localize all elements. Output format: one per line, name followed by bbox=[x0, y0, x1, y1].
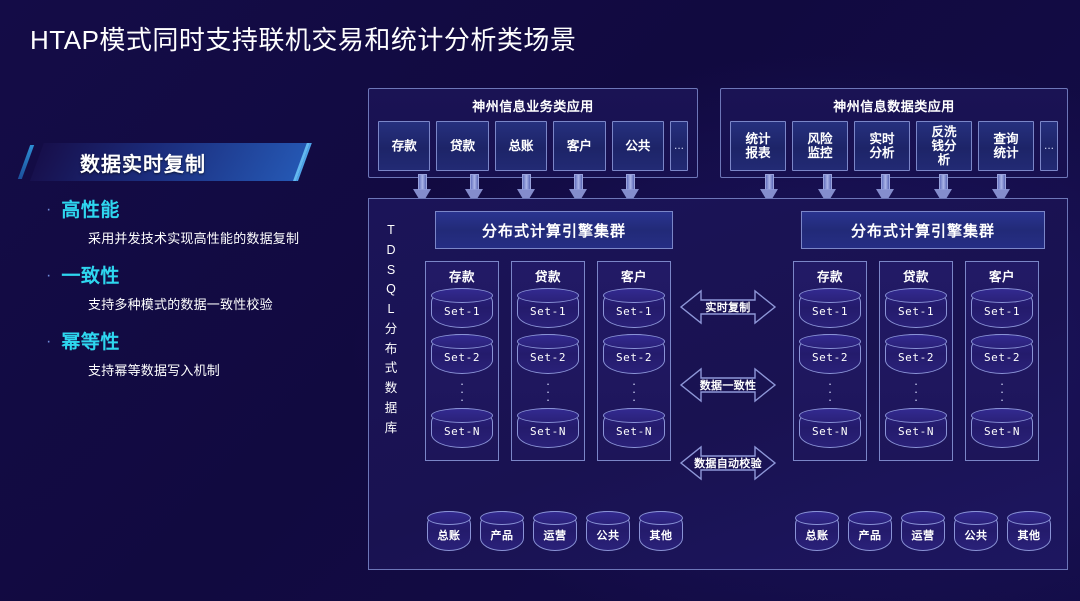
feature-title: 幂等性 bbox=[61, 327, 120, 354]
set-cylinder[interactable]: Set-2 bbox=[885, 334, 947, 374]
app-chip-more[interactable]: ... bbox=[1040, 121, 1058, 171]
feature-description: 支持幂等数据写入机制 bbox=[26, 360, 346, 379]
tdsql-label-char: L bbox=[379, 300, 403, 320]
app-group-business: 神州信息业务类应用 存款 贷款 总账 客户 公共 ... bbox=[368, 88, 698, 178]
set-cylinder[interactable]: Set-1 bbox=[799, 288, 861, 328]
sync-arrow-label: 实时复制 bbox=[705, 299, 750, 315]
app-group-data: 神州信息数据类应用 统计报表 风险监控 实时分析 反洗钱分析 查询统计 ... bbox=[720, 88, 1068, 178]
compute-engine-cluster: 分布式计算引擎集群 bbox=[801, 211, 1045, 249]
set-cylinder[interactable]: Set-2 bbox=[971, 334, 1033, 374]
tdsql-label-char: 式 bbox=[379, 359, 403, 379]
vertical-dots-icon: ··· bbox=[546, 380, 550, 404]
bottom-cylinder[interactable]: 运营 bbox=[533, 511, 577, 551]
bottom-cylinder[interactable]: 运营 bbox=[901, 511, 945, 551]
bottom-cylinder-label: 公共 bbox=[965, 527, 988, 543]
bottom-cylinder-row-left: 总账 产品 运营 公共 其他 bbox=[427, 511, 683, 551]
feature-list: · 高性能 采用并发技术实现高性能的数据复制 · 一致性 支持多种模式的数据一致… bbox=[26, 195, 346, 379]
bullet-icon: · bbox=[46, 268, 51, 284]
set-column-customer: 客户 Set-1 Set-2 ··· Set-N bbox=[965, 261, 1039, 461]
feature-banner: 数据实时复制 bbox=[30, 143, 298, 181]
bottom-cylinder-label: 运营 bbox=[912, 527, 935, 543]
set-cylinder[interactable]: Set-1 bbox=[885, 288, 947, 328]
set-cylinder[interactable]: Set-N bbox=[517, 408, 579, 448]
sync-arrow-label: 数据自动校验 bbox=[694, 455, 762, 471]
feature-head: · 一致性 bbox=[26, 261, 346, 288]
bottom-cylinder[interactable]: 其他 bbox=[1007, 511, 1051, 551]
set-label: Set-1 bbox=[530, 305, 566, 318]
app-chip[interactable]: 公共 bbox=[612, 121, 664, 171]
set-column-title: 贷款 bbox=[903, 266, 929, 285]
set-column-loan: 贷款 Set-1 Set-2 ··· Set-N bbox=[511, 261, 585, 461]
set-column-customer: 客户 Set-1 Set-2 ··· Set-N bbox=[597, 261, 671, 461]
feature-description: 支持多种模式的数据一致性校验 bbox=[26, 294, 346, 313]
set-cylinder[interactable]: Set-N bbox=[971, 408, 1033, 448]
set-column-title: 贷款 bbox=[535, 266, 561, 285]
set-column-list: 存款 Set-1 Set-2 ··· Set-N 贷款 Set-1 Set-2 … bbox=[793, 261, 1059, 461]
set-label: Set-1 bbox=[444, 305, 480, 318]
compute-engine-cluster: 分布式计算引擎集群 bbox=[435, 211, 673, 249]
feature-banner-label: 数据实时复制 bbox=[30, 148, 206, 177]
bottom-cylinder[interactable]: 公共 bbox=[954, 511, 998, 551]
set-column-deposit: 存款 Set-1 Set-2 ··· Set-N bbox=[425, 261, 499, 461]
set-column-title: 存款 bbox=[449, 266, 475, 285]
set-label: Set-1 bbox=[616, 305, 652, 318]
bottom-cylinder-label: 总账 bbox=[806, 527, 829, 543]
bottom-cylinder-label: 其他 bbox=[650, 527, 673, 543]
set-cylinder[interactable]: Set-1 bbox=[517, 288, 579, 328]
bottom-cylinder[interactable]: 其他 bbox=[639, 511, 683, 551]
set-label: Set-N bbox=[444, 425, 480, 438]
app-chip[interactable]: 反洗钱分析 bbox=[916, 121, 972, 171]
tdsql-panel: T D S Q L 分 布 式 数 据 库 分布式计算引擎集群 存款 Set-1… bbox=[368, 198, 1068, 570]
feature-head: · 幂等性 bbox=[26, 327, 346, 354]
bottom-cylinder-label: 产品 bbox=[859, 527, 882, 543]
app-chip[interactable]: 存款 bbox=[378, 121, 430, 171]
bottom-cylinder[interactable]: 产品 bbox=[848, 511, 892, 551]
sync-arrow-label: 数据一致性 bbox=[700, 377, 757, 393]
set-column-deposit: 存款 Set-1 Set-2 ··· Set-N bbox=[793, 261, 867, 461]
cluster-half-right: 分布式计算引擎集群 存款 Set-1 Set-2 ··· Set-N 贷款 Se… bbox=[787, 211, 1059, 561]
app-chip[interactable]: 实时分析 bbox=[854, 121, 910, 171]
bottom-cylinder-label: 其他 bbox=[1018, 527, 1041, 543]
app-chip[interactable]: 客户 bbox=[553, 121, 605, 171]
set-cylinder[interactable]: Set-N bbox=[603, 408, 665, 448]
set-label: Set-1 bbox=[898, 305, 934, 318]
set-cylinder[interactable]: Set-2 bbox=[799, 334, 861, 374]
set-cylinder[interactable]: Set-2 bbox=[431, 334, 493, 374]
set-cylinder[interactable]: Set-N bbox=[799, 408, 861, 448]
tdsql-label-char: Q bbox=[379, 280, 403, 300]
app-group-title: 神州信息数据类应用 bbox=[721, 89, 1067, 115]
set-cylinder[interactable]: Set-1 bbox=[431, 288, 493, 328]
feature-head: · 高性能 bbox=[26, 195, 346, 222]
set-label: Set-N bbox=[984, 425, 1020, 438]
feature-item-high-performance: · 高性能 采用并发技术实现高性能的数据复制 bbox=[26, 195, 346, 247]
tdsql-label-char: 数 bbox=[379, 379, 403, 399]
set-label: Set-N bbox=[812, 425, 848, 438]
page-title: HTAP模式同时支持联机交易和统计分析类场景 bbox=[30, 20, 576, 57]
vertical-dots-icon: ··· bbox=[828, 380, 832, 404]
app-chip[interactable]: 统计报表 bbox=[730, 121, 786, 171]
set-label: Set-2 bbox=[530, 351, 566, 364]
tdsql-label-char: 据 bbox=[379, 399, 403, 419]
set-column-title: 存款 bbox=[817, 266, 843, 285]
app-chip[interactable]: 风险监控 bbox=[792, 121, 848, 171]
left-feature-panel: 数据实时复制 · 高性能 采用并发技术实现高性能的数据复制 · 一致性 支持多种… bbox=[26, 143, 346, 393]
tdsql-vertical-label: T D S Q L 分 布 式 数 据 库 bbox=[379, 221, 403, 438]
feature-description: 采用并发技术实现高性能的数据复制 bbox=[26, 228, 346, 247]
cluster-half-left: 分布式计算引擎集群 存款 Set-1 Set-2 ··· Set-N 贷款 Se… bbox=[411, 211, 721, 561]
tdsql-label-char: 分 bbox=[379, 320, 403, 340]
vertical-dots-icon: ··· bbox=[460, 380, 464, 404]
set-label: Set-2 bbox=[984, 351, 1020, 364]
bottom-cylinder-label: 公共 bbox=[597, 527, 620, 543]
app-chip[interactable]: 总账 bbox=[495, 121, 547, 171]
set-cylinder[interactable]: Set-N bbox=[885, 408, 947, 448]
bottom-cylinder[interactable]: 公共 bbox=[586, 511, 630, 551]
set-column-loan: 贷款 Set-1 Set-2 ··· Set-N bbox=[879, 261, 953, 461]
feature-title: 一致性 bbox=[61, 261, 120, 288]
bullet-icon: · bbox=[46, 202, 51, 218]
architecture-diagram: 神州信息业务类应用 存款 贷款 总账 客户 公共 ... 神州信息数据类应用 统… bbox=[368, 88, 1068, 570]
vertical-dots-icon: ··· bbox=[632, 380, 636, 404]
set-label: Set-1 bbox=[984, 305, 1020, 318]
bottom-cylinder[interactable]: 总账 bbox=[427, 511, 471, 551]
app-group-title: 神州信息业务类应用 bbox=[369, 89, 697, 115]
tdsql-label-char: 库 bbox=[379, 419, 403, 439]
set-label: Set-1 bbox=[812, 305, 848, 318]
feature-item-consistency: · 一致性 支持多种模式的数据一致性校验 bbox=[26, 261, 346, 313]
set-label: Set-2 bbox=[812, 351, 848, 364]
bullet-icon: · bbox=[46, 334, 51, 350]
app-chip-list: 统计报表 风险监控 实时分析 反洗钱分析 查询统计 ... bbox=[721, 115, 1067, 175]
set-column-list: 存款 Set-1 Set-2 ··· Set-N 贷款 Set-1 Set-2 … bbox=[425, 261, 721, 461]
app-chip[interactable]: 查询统计 bbox=[978, 121, 1034, 171]
tdsql-label-char: S bbox=[379, 261, 403, 281]
tdsql-label-char: T bbox=[379, 221, 403, 241]
bottom-cylinder[interactable]: 总账 bbox=[795, 511, 839, 551]
vertical-dots-icon: ··· bbox=[1000, 380, 1004, 404]
set-label: Set-2 bbox=[898, 351, 934, 364]
set-label: Set-2 bbox=[616, 351, 652, 364]
set-label: Set-N bbox=[530, 425, 566, 438]
sync-arrow-list: 实时复制 数据一致性 数据自动校验 bbox=[679, 287, 779, 521]
bottom-cylinder-label: 总账 bbox=[438, 527, 461, 543]
bottom-cylinder-label: 产品 bbox=[491, 527, 514, 543]
app-chip[interactable]: 贷款 bbox=[436, 121, 488, 171]
set-label: Set-2 bbox=[444, 351, 480, 364]
app-chip-more[interactable]: ... bbox=[670, 121, 688, 171]
sync-arrow-data-consistency: 数据一致性 bbox=[679, 365, 777, 405]
set-label: Set-N bbox=[898, 425, 934, 438]
app-chip-list: 存款 贷款 总账 客户 公共 ... bbox=[369, 115, 697, 175]
set-cylinder[interactable]: Set-2 bbox=[517, 334, 579, 374]
bottom-cylinder-label: 运营 bbox=[544, 527, 567, 543]
feature-title: 高性能 bbox=[61, 195, 120, 222]
set-column-title: 客户 bbox=[621, 266, 647, 285]
set-cylinder[interactable]: Set-2 bbox=[603, 334, 665, 374]
bottom-cylinder-row-right: 总账 产品 运营 公共 其他 bbox=[795, 511, 1051, 551]
sync-arrow-auto-verification: 数据自动校验 bbox=[679, 443, 777, 483]
bottom-cylinder[interactable]: 产品 bbox=[480, 511, 524, 551]
set-cylinder[interactable]: Set-N bbox=[431, 408, 493, 448]
set-label: Set-N bbox=[616, 425, 652, 438]
vertical-dots-icon: ··· bbox=[914, 380, 918, 404]
set-cylinder[interactable]: Set-1 bbox=[603, 288, 665, 328]
feature-item-idempotency: · 幂等性 支持幂等数据写入机制 bbox=[26, 327, 346, 379]
set-column-title: 客户 bbox=[989, 266, 1015, 285]
tdsql-label-char: 布 bbox=[379, 340, 403, 360]
sync-arrow-realtime-replication: 实时复制 bbox=[679, 287, 777, 327]
set-cylinder[interactable]: Set-1 bbox=[971, 288, 1033, 328]
tdsql-label-char: D bbox=[379, 241, 403, 261]
